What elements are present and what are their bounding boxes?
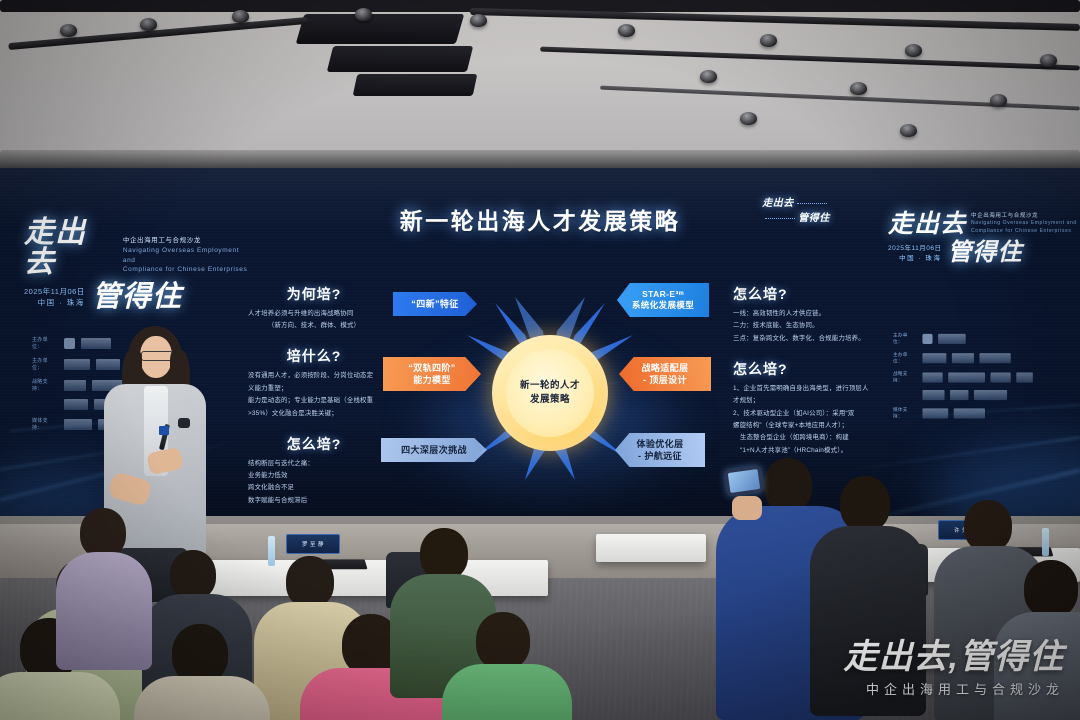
banner-left-city: 中国 · 珠海 bbox=[24, 297, 85, 308]
wall-top-shadow bbox=[0, 150, 1080, 170]
audience-head bbox=[840, 476, 890, 532]
left-block-1: 培什么? 没有通用人才，必须按阶段、分岗位动态定 义能力重塑； 能力是动态的；专… bbox=[248, 346, 380, 418]
ceiling-panel-b bbox=[327, 46, 473, 72]
watermark-line2: 中企出海用工与合规沙龙 bbox=[844, 679, 1064, 698]
chip-shuang-gui-label2: 能力模型 bbox=[413, 374, 451, 386]
left-line: 跨文化融合不足 bbox=[248, 483, 380, 493]
event-banner-right: 走出去 中企出海用工与合规沙龙 Navigating Overseas Empl… bbox=[888, 212, 1080, 322]
chip-ti-yan-label1: 体验优化层 bbox=[636, 438, 683, 450]
audience-head bbox=[964, 500, 1012, 552]
left-heading-1: 培什么? bbox=[248, 346, 380, 366]
left-block-0: 为何培? 人才培养必须与升维的出海战略协同 （新方向、技术、群体、模式） bbox=[248, 284, 380, 331]
left-line: 数字赋能与合规滞后 bbox=[248, 496, 380, 506]
sponsor-logo-icon bbox=[954, 408, 985, 418]
sponsor-logo-icon bbox=[64, 380, 86, 391]
chip-ti-yan-you-hua[interactable]: 体验优化层 - 护航远征 bbox=[615, 433, 705, 467]
banner-right-date: 2025年11月06日 bbox=[888, 242, 941, 252]
banner-left-line1: 走出去 bbox=[24, 218, 117, 278]
slide-center-diagram: 新一轮的人才 发展策略 “四新”特征 STAR-E³ᵐ 系统化发展模型 “双轨四… bbox=[375, 275, 725, 500]
audience-table-center bbox=[596, 534, 706, 562]
sponsor-logo-icon bbox=[974, 390, 1007, 400]
slide-left-column: 为何培? 人才培养必须与升维的出海战略协同 （新方向、技术、群体、模式） 培什么… bbox=[248, 284, 380, 521]
mini-logo-line2: 管得住 bbox=[798, 213, 830, 224]
sponsor-row: 战略支持： bbox=[893, 371, 1077, 384]
banner-right-sub-en-2: Compliance for Chinese Enterprises bbox=[971, 228, 1077, 236]
sponsor-logo-icon bbox=[979, 353, 1010, 363]
left-line: 义能力重塑； bbox=[248, 384, 380, 394]
sponsor-logo-icon bbox=[922, 353, 946, 363]
left-line: 业务能力低效 bbox=[248, 471, 380, 481]
sponsor-logo-icon bbox=[64, 338, 75, 349]
photographer-head bbox=[764, 458, 812, 512]
sponsor-logo-icon bbox=[938, 333, 966, 343]
sponsor-row-label: 主办单位： bbox=[32, 357, 58, 371]
chip-star-e3m-label2: 系统化发展模型 bbox=[632, 300, 694, 311]
sponsor-logo-icon bbox=[1016, 372, 1033, 382]
chip-ti-yan-label2: - 护航远征 bbox=[638, 450, 682, 462]
slide-right-column: 怎么培? 一线：高效韧性的人才供应链。 二力：技术底能、生态协同。 三点：复杂跨… bbox=[733, 284, 883, 471]
left-line: 能力是动态的；专业能力是基础（全栈权重 bbox=[248, 396, 380, 406]
left-line: 人才培养必须与升维的出海战略协同 bbox=[248, 309, 380, 319]
right-line: 1、企业首先需明确自身出海类型，进行顶层人 bbox=[733, 384, 883, 394]
ceiling-spotlight bbox=[140, 18, 157, 31]
chip-zhan-lue-shi-pei[interactable]: 战略适配层 - 顶层设计 bbox=[619, 357, 711, 391]
audience-body bbox=[56, 552, 152, 670]
chip-zhan-lue-label1: 战略适配层 bbox=[641, 362, 688, 374]
right-line: 螺旋结构”（全球专家+本地应用人才）； bbox=[733, 421, 883, 431]
watermark: 走出去,管得住 中企出海用工与合规沙龙 bbox=[844, 640, 1064, 698]
nameplate-left-text: 罗 至 静 bbox=[302, 540, 324, 548]
sponsor-logo-icon bbox=[922, 390, 944, 400]
audience-body bbox=[0, 672, 120, 720]
sponsor-row-label: 媒体支持： bbox=[32, 417, 58, 431]
audience-head bbox=[172, 624, 228, 684]
ceiling-spotlight bbox=[470, 14, 487, 27]
speaker-badge-icon bbox=[178, 418, 190, 428]
audience-head bbox=[80, 508, 126, 558]
left-line: 结构断层与迭代之痛： bbox=[248, 459, 380, 469]
sponsor-row: 媒体支持： bbox=[893, 407, 1077, 420]
ceiling-spotlight bbox=[850, 82, 867, 95]
ceiling-panel-a bbox=[296, 14, 465, 44]
right-heading-0: 怎么培? bbox=[733, 284, 883, 304]
sponsor-row-label: 主办单位： bbox=[32, 336, 58, 350]
left-heading-2: 怎么培? bbox=[248, 434, 380, 454]
right-line: “1+N人才共享池”（HRChain模式）。 bbox=[733, 446, 883, 456]
right-line: 三点：复杂跨文化、数字化、合规能力培养。 bbox=[733, 334, 883, 344]
microphone-flag bbox=[159, 426, 169, 435]
left-line: （新方向、技术、群体、模式） bbox=[248, 321, 380, 331]
banner-right-line2: 管得住 bbox=[947, 241, 1022, 265]
sponsor-logo-icon bbox=[64, 399, 88, 410]
sponsor-row: . bbox=[893, 390, 1077, 400]
ceiling-panel-c bbox=[353, 74, 478, 96]
right-line: 生态整合型企业（如跨境电商）：构建 bbox=[733, 433, 883, 443]
right-heading-1: 怎么培? bbox=[733, 359, 883, 379]
sponsor-logo-icon bbox=[952, 353, 974, 363]
speaker-glasses bbox=[141, 351, 173, 361]
right-line: 一线：高效韧性的人才供应链。 bbox=[733, 309, 883, 319]
diagram-hub: 新一轮的人才 发展策略 bbox=[492, 335, 608, 451]
event-banner-left: 走出去 中企出海用工与合规沙龙 Navigating Overseas Empl… bbox=[24, 218, 254, 328]
mini-logo-line1: 走出去 bbox=[762, 198, 794, 209]
banner-right-city: 中国 · 珠海 bbox=[888, 252, 941, 262]
hub-line2: 发展策略 bbox=[530, 393, 570, 407]
mini-logo-dots bbox=[765, 218, 795, 219]
chip-shuang-gui-si-jie[interactable]: “双轨四阶” 能力模型 bbox=[383, 357, 481, 391]
sponsor-logo-icon bbox=[922, 333, 932, 343]
banner-left-date: 2025年11月06日 bbox=[24, 286, 85, 297]
screenshot-root: 新一轮出海人才发展策略 走出去 管得住 走出去 中企出海用工与合规沙龙 Navi… bbox=[0, 0, 1080, 720]
ceiling-spotlight bbox=[740, 112, 757, 125]
ceiling-spotlight bbox=[1040, 54, 1057, 67]
sponsor-logo-icon bbox=[991, 372, 1011, 382]
chip-si-xin[interactable]: “四新”特征 bbox=[393, 292, 477, 316]
sponsor-logo-icon bbox=[950, 390, 968, 400]
sponsor-logo-icon bbox=[64, 419, 92, 430]
nameplate-left: 罗 至 静 bbox=[286, 534, 340, 554]
sponsor-row-label: 媒体支持： bbox=[893, 407, 917, 420]
right-block-1: 怎么培? 1、企业首先需明确自身出海类型，进行顶层人 才规划； 2、技术驱动型企… bbox=[733, 359, 883, 456]
ceiling-spotlight bbox=[60, 24, 77, 37]
audience-head bbox=[170, 550, 216, 600]
banner-right-sub-cn: 中企出海用工与合规沙龙 bbox=[971, 212, 1077, 220]
audience-head bbox=[1024, 560, 1078, 618]
ceiling-spotlight bbox=[355, 8, 372, 21]
audience-table-left bbox=[208, 560, 548, 596]
right-line: 二力：技术底能、生态协同。 bbox=[733, 321, 883, 331]
right-line: 2、技术驱动型企业（如AI公司）：采用“双 bbox=[733, 409, 883, 419]
ceiling-spotlight bbox=[700, 70, 717, 83]
left-line: >35%）文化融合是决胜关键； bbox=[248, 409, 380, 419]
right-block-0: 怎么培? 一线：高效韧性的人才供应链。 二力：技术底能、生态协同。 三点：复杂跨… bbox=[733, 284, 883, 344]
sponsor-row-label: 战略支持： bbox=[32, 378, 58, 392]
chip-si-da-tiao-zhan[interactable]: 四大深层次挑战 bbox=[381, 438, 487, 462]
audience-head bbox=[420, 528, 468, 580]
ceiling-spotlight bbox=[990, 94, 1007, 107]
sponsor-logo-icon bbox=[922, 408, 948, 418]
ceiling-spotlight bbox=[900, 124, 917, 137]
sponsor-row-label: 主办单位： bbox=[893, 332, 917, 345]
banner-left-sub-en-1: Navigating Overseas Employment and bbox=[123, 246, 254, 266]
chip-zhan-lue-label2: - 顶层设计 bbox=[643, 374, 687, 386]
mini-logo-dots bbox=[797, 203, 827, 204]
sponsor-row: 主办单位： bbox=[893, 332, 1077, 345]
smartphone-screen bbox=[728, 469, 760, 493]
diagram-hub-inner: 新一轮的人才 发展策略 bbox=[506, 349, 594, 437]
left-line: 没有通用人才，必须按阶段、分岗位动态定 bbox=[248, 371, 380, 381]
banner-left-line2: 管得住 bbox=[92, 283, 182, 312]
ceiling-spotlight bbox=[618, 24, 635, 37]
mini-event-logo: 走出去 管得住 bbox=[758, 196, 834, 238]
ceiling-spotlight bbox=[760, 34, 777, 47]
chip-star-e3m-label1: STAR-E³ᵐ bbox=[642, 289, 684, 300]
audience-body bbox=[134, 676, 270, 720]
sponsor-block-right: 主办单位： 主办单位： 战略支持： . 媒体支持： bbox=[893, 332, 1077, 426]
audience-head bbox=[476, 612, 530, 670]
sponsor-row-label: 战略支持： bbox=[893, 371, 917, 384]
audience-body bbox=[442, 664, 572, 720]
sponsor-row: 主办单位： bbox=[893, 351, 1077, 364]
sponsor-row-label: 主办单位： bbox=[893, 351, 917, 364]
ceiling-spotlight bbox=[232, 10, 249, 23]
water-bottle bbox=[268, 536, 275, 566]
watermark-line1: 走出去,管得住 bbox=[844, 640, 1064, 674]
left-heading-0: 为何培? bbox=[248, 284, 380, 304]
audience-head bbox=[286, 556, 334, 608]
sponsor-logo-icon bbox=[948, 372, 985, 382]
banner-right-sub-en-1: Navigating Overseas Employment and bbox=[971, 220, 1077, 228]
chip-shuang-gui-label1: “双轨四阶” bbox=[408, 362, 455, 374]
banner-right-line1: 走出去 bbox=[888, 212, 966, 237]
water-bottle bbox=[1042, 528, 1049, 556]
photographer-hand bbox=[732, 496, 762, 520]
banner-left-sub-cn: 中企出海用工与合规沙龙 bbox=[123, 236, 254, 246]
ceiling-spotlight bbox=[905, 44, 922, 57]
chip-si-da-label: 四大深层次挑战 bbox=[401, 444, 467, 456]
banner-left-sub-en-2: Compliance for Chinese Enterprises bbox=[123, 265, 254, 275]
hub-line1: 新一轮的人才 bbox=[520, 379, 580, 393]
sponsor-logo-icon bbox=[922, 372, 942, 382]
chip-star-e3m[interactable]: STAR-E³ᵐ 系统化发展模型 bbox=[617, 283, 709, 317]
left-block-2: 怎么培? 结构断层与迭代之痛： 业务能力低效 跨文化融合不足 数字赋能与合规滞后 bbox=[248, 434, 380, 506]
chip-si-xin-label: “四新”特征 bbox=[411, 298, 458, 310]
right-line: 才规划； bbox=[733, 396, 883, 406]
sponsor-logo-icon bbox=[64, 359, 90, 370]
